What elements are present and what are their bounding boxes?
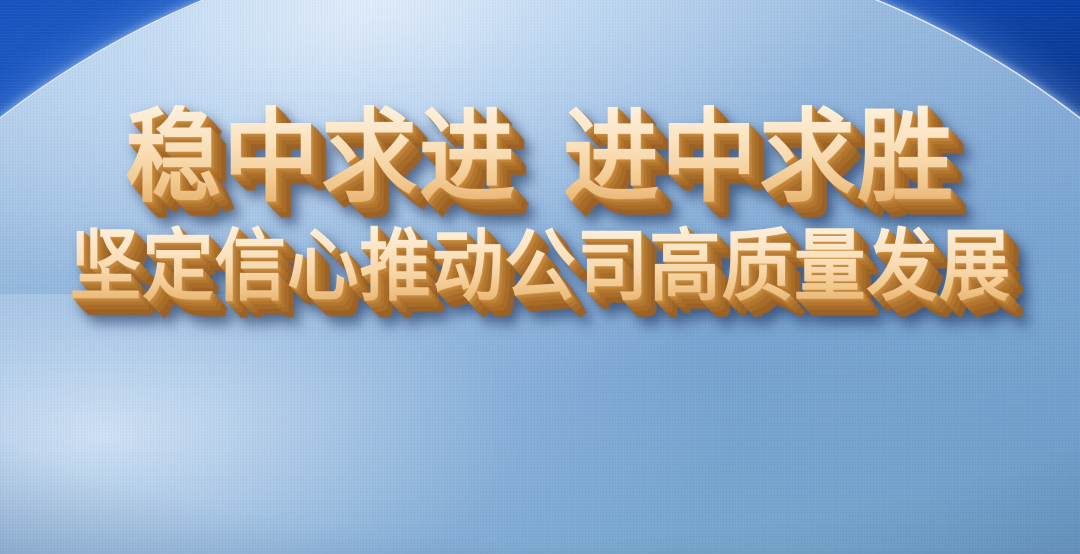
headline-title-part1: 稳中求进 <box>125 98 517 217</box>
banner-poster: 稳中求进进中求胜 坚定信心推动公司高质量发展 <box>0 0 1080 554</box>
headline-subtitle: 坚定信心推动公司高质量发展 <box>69 225 1010 307</box>
headline-title: 稳中求进进中求胜 <box>125 105 955 211</box>
headline-title-part2: 进中求胜 <box>563 98 955 217</box>
headline-block: 稳中求进进中求胜 坚定信心推动公司高质量发展 <box>0 108 1080 303</box>
